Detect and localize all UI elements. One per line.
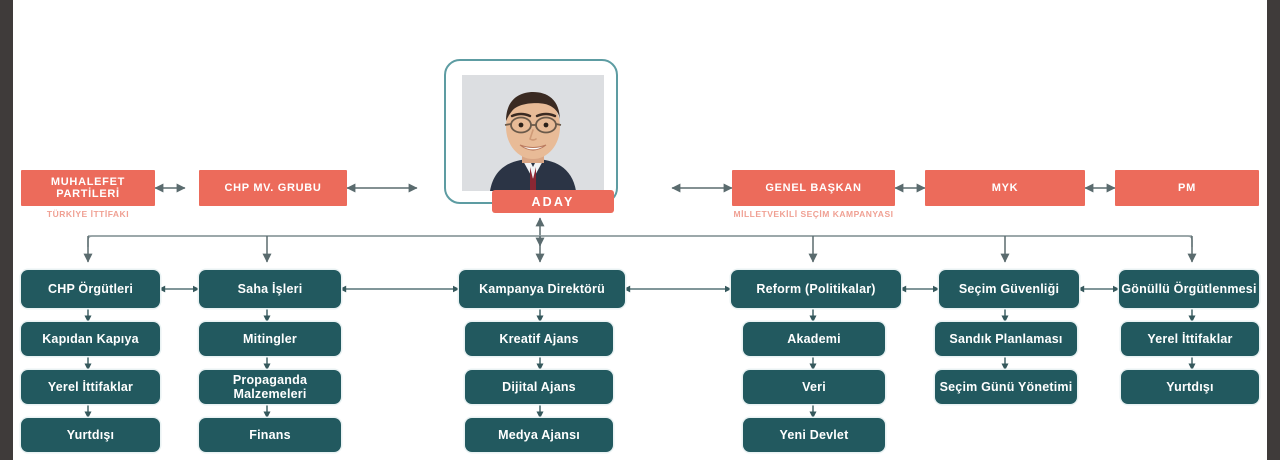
node-label: Yurtdışı: [1166, 380, 1213, 394]
node-propaganda-malzemeleri[interactable]: Propaganda Malzemeleri: [199, 370, 341, 404]
candidate-photo: [462, 75, 604, 191]
node-label: Seçim Günü Yönetimi: [940, 380, 1073, 394]
node-reform-politikalar[interactable]: Reform (Politikalar): [731, 270, 901, 308]
node-label: GENEL BAŞKAN: [765, 182, 861, 194]
node-label: Yeni Devlet: [780, 428, 849, 442]
node-label: PM: [1178, 182, 1196, 194]
portrait-icon: [462, 75, 604, 191]
sublabel-turkiye-ittifaki: TÜRKİYE İTTİFAKI: [21, 209, 155, 220]
node-label: Kampanya Direktörü: [479, 282, 605, 296]
node-muhalefet-partileri[interactable]: MUHALEFET PARTİLERİ: [21, 170, 155, 206]
node-label: Reform (Politikalar): [756, 282, 875, 296]
node-label: ADAY: [531, 195, 574, 209]
node-label: Seçim Güvenliği: [959, 282, 1059, 296]
node-yerel-ittifaklar-2[interactable]: Yerel İttifaklar: [1121, 322, 1259, 356]
node-label: Saha İşleri: [238, 282, 303, 296]
node-secim-gunu-yonetimi[interactable]: Seçim Günü Yönetimi: [935, 370, 1077, 404]
node-sandik-planlamasi[interactable]: Sandık Planlaması: [935, 322, 1077, 356]
node-label: Propaganda Malzemeleri: [199, 373, 341, 401]
node-label: Yerel İttifaklar: [1147, 332, 1232, 346]
left-edge-bar: [0, 0, 13, 460]
node-saha-isleri[interactable]: Saha İşleri: [199, 270, 341, 308]
node-yeni-devlet[interactable]: Yeni Devlet: [743, 418, 885, 452]
node-kapidan-kapiya[interactable]: Kapıdan Kapıya: [21, 322, 160, 356]
node-label: Yerel İttifaklar: [48, 380, 133, 394]
node-label: Akademi: [787, 332, 841, 346]
diagram-canvas: MUHALEFET PARTİLERİ TÜRKİYE İTTİFAKI CHP…: [13, 0, 1267, 460]
node-label: Veri: [802, 380, 826, 394]
candidate-card: [444, 59, 618, 204]
node-gonullu-orgutlenmesi[interactable]: Gönüllü Örgütlenmesi: [1119, 270, 1259, 308]
node-label: Dijital Ajans: [502, 380, 576, 394]
node-myk[interactable]: MYK: [925, 170, 1085, 206]
node-yurtdisi-1[interactable]: Yurtdışı: [21, 418, 160, 452]
node-akademi[interactable]: Akademi: [743, 322, 885, 356]
node-chp-mv-grubu[interactable]: CHP MV. GRUBU: [199, 170, 347, 206]
node-label: Gönüllü Örgütlenmesi: [1121, 282, 1256, 296]
node-label: Sandık Planlaması: [949, 332, 1062, 346]
node-chp-orgutleri[interactable]: CHP Örgütleri: [21, 270, 160, 308]
node-finans[interactable]: Finans: [199, 418, 341, 452]
node-yerel-ittifaklar-1[interactable]: Yerel İttifaklar: [21, 370, 160, 404]
node-mitingler[interactable]: Mitingler: [199, 322, 341, 356]
node-label: Mitingler: [243, 332, 297, 346]
node-label: Finans: [249, 428, 290, 442]
node-pm[interactable]: PM: [1115, 170, 1259, 206]
node-medya-ajansi[interactable]: Medya Ajansı: [465, 418, 613, 452]
node-kampanya-direktoru[interactable]: Kampanya Direktörü: [459, 270, 625, 308]
org-chart-diagram: MUHALEFET PARTİLERİ TÜRKİYE İTTİFAKI CHP…: [0, 0, 1280, 460]
node-label: Kreatif Ajans: [499, 332, 578, 346]
sublabel-milletvekili-secim-kampanyasi: MİLLETVEKİLİ SEÇİM KAMPANYASI: [727, 209, 900, 220]
node-label: Yurtdışı: [67, 428, 114, 442]
node-label: Kapıdan Kapıya: [42, 332, 139, 346]
node-aday[interactable]: ADAY: [492, 190, 614, 213]
node-kreatif-ajans[interactable]: Kreatif Ajans: [465, 322, 613, 356]
node-label: CHP Örgütleri: [48, 282, 133, 296]
node-label: MYK: [992, 182, 1019, 194]
node-yurtdisi-2[interactable]: Yurtdışı: [1121, 370, 1259, 404]
node-dijital-ajans[interactable]: Dijital Ajans: [465, 370, 613, 404]
node-veri[interactable]: Veri: [743, 370, 885, 404]
node-genel-baskan[interactable]: GENEL BAŞKAN: [732, 170, 895, 206]
right-edge-bar: [1267, 0, 1280, 460]
node-secim-guvenligi[interactable]: Seçim Güvenliği: [939, 270, 1079, 308]
node-label: MUHALEFET PARTİLERİ: [21, 176, 155, 201]
node-label: CHP MV. GRUBU: [224, 182, 321, 194]
node-label: Medya Ajansı: [498, 428, 580, 442]
